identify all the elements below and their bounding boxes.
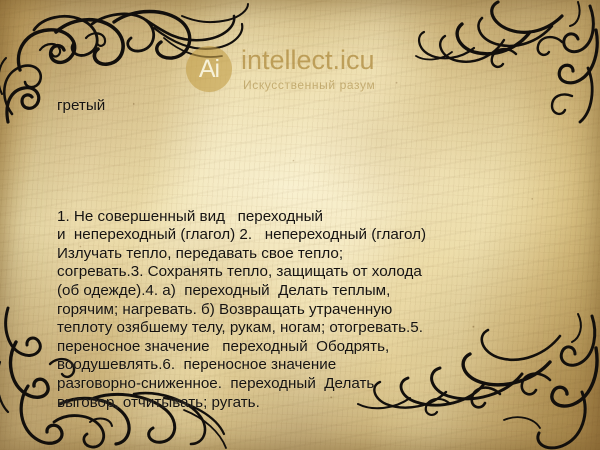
headword: гретый [57,97,569,115]
spacer [57,152,569,170]
definition-block-1: 1. Не совершенный вид переходный и непер… [57,208,569,413]
parchment-page: Ai intellect.icu Искусственный разум гре… [0,0,600,450]
dictionary-article: гретый 1. Не совершенный вид переходный … [57,60,569,450]
